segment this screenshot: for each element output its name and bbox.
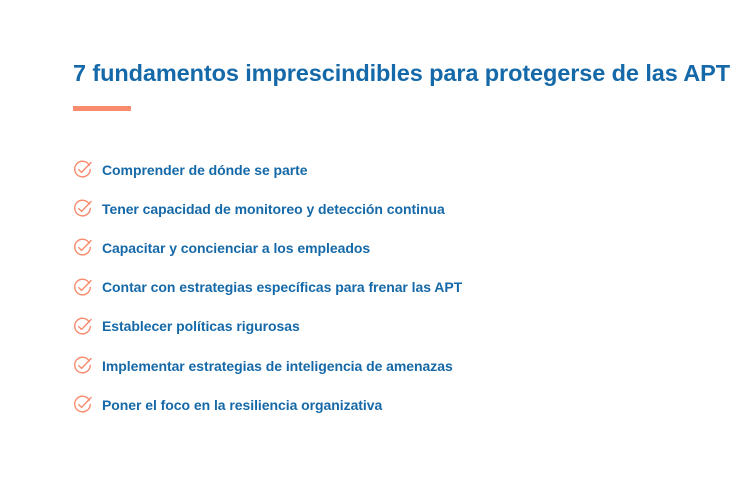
check-circle-icon — [73, 199, 92, 218]
list-item: Contar con estrategias específicas para … — [73, 268, 723, 307]
list-item: Establecer políticas rigurosas — [73, 307, 723, 346]
page-title: 7 fundamentos imprescindibles para prote… — [73, 58, 733, 88]
list-item: Implementar estrategias de inteligencia … — [73, 346, 723, 385]
check-circle-icon — [73, 395, 92, 414]
title-accent-rule — [73, 106, 131, 111]
slide-canvas: 7 fundamentos imprescindibles para prote… — [0, 0, 750, 500]
list-item-label: Comprender de dónde se parte — [102, 161, 308, 179]
check-circle-icon — [73, 238, 92, 257]
checklist: Comprender de dónde se parte Tener capac… — [73, 150, 723, 424]
check-circle-icon — [73, 278, 92, 297]
list-item-label: Establecer políticas rigurosas — [102, 317, 300, 335]
list-item-label: Poner el foco en la resiliencia organiza… — [102, 396, 382, 414]
list-item-label: Contar con estrategias específicas para … — [102, 278, 462, 296]
list-item-label: Tener capacidad de monitoreo y detección… — [102, 200, 445, 218]
check-circle-icon — [73, 356, 92, 375]
list-item: Tener capacidad de monitoreo y detección… — [73, 189, 723, 228]
list-item: Poner el foco en la resiliencia organiza… — [73, 385, 723, 424]
list-item: Capacitar y concienciar a los empleados — [73, 228, 723, 267]
list-item-label: Capacitar y concienciar a los empleados — [102, 239, 370, 257]
title-block: 7 fundamentos imprescindibles para prote… — [73, 58, 733, 111]
list-item: Comprender de dónde se parte — [73, 150, 723, 189]
check-circle-icon — [73, 160, 92, 179]
check-circle-icon — [73, 317, 92, 336]
list-item-label: Implementar estrategias de inteligencia … — [102, 357, 453, 375]
